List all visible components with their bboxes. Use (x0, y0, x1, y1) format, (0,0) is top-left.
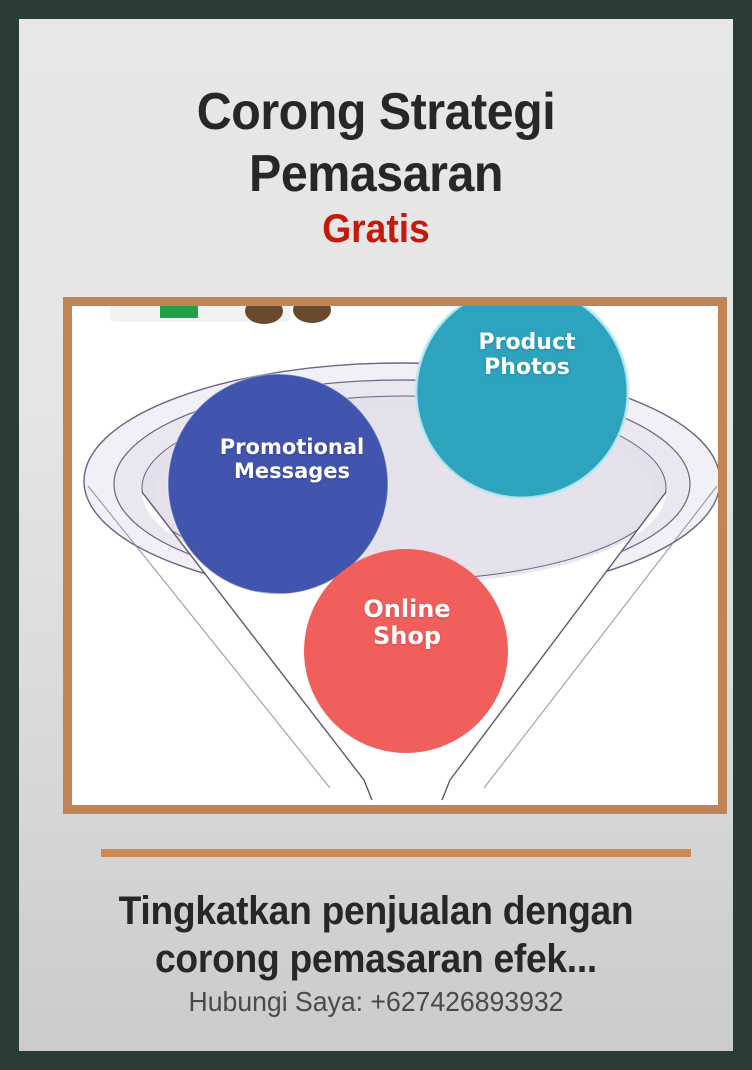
funnel-image-canvas: Promotional Messages Product Photos Onli… (72, 306, 718, 805)
contact-info: Hubungi Saya: +627426893932 (37, 985, 715, 1019)
funnel-image-frame: Promotional Messages Product Photos Onli… (63, 297, 727, 814)
title-line-1: Corong Strategi (44, 81, 708, 143)
tagline-line-1: Tingkatkan penjualan dengan (44, 887, 708, 935)
subtitle-gratis: Gratis (44, 205, 708, 253)
footer: Tingkatkan penjualan dengan corong pemas… (19, 887, 733, 1019)
title-line-2: Pemasaran (44, 143, 708, 205)
bubble-online-circle (304, 549, 508, 753)
poster-inner-panel: Corong Strategi Pemasaran Gratis (19, 19, 733, 1051)
bubble-online-shop (304, 549, 508, 753)
bubble-promotional-messages (168, 374, 388, 594)
section-divider (101, 849, 691, 857)
bubble-promotional-circle (168, 374, 388, 594)
bubble-product-photos (416, 306, 628, 498)
top-decor-group (110, 306, 331, 324)
brown-blob-icon-2 (293, 306, 331, 323)
tagline-line-2: corong pemasaran efek... (44, 935, 708, 983)
poster-root: Corong Strategi Pemasaran Gratis (0, 0, 752, 1070)
marketing-funnel-diagram (72, 306, 718, 805)
page-title: Corong Strategi Pemasaran Gratis (19, 81, 733, 253)
green-tag-icon (160, 306, 198, 318)
